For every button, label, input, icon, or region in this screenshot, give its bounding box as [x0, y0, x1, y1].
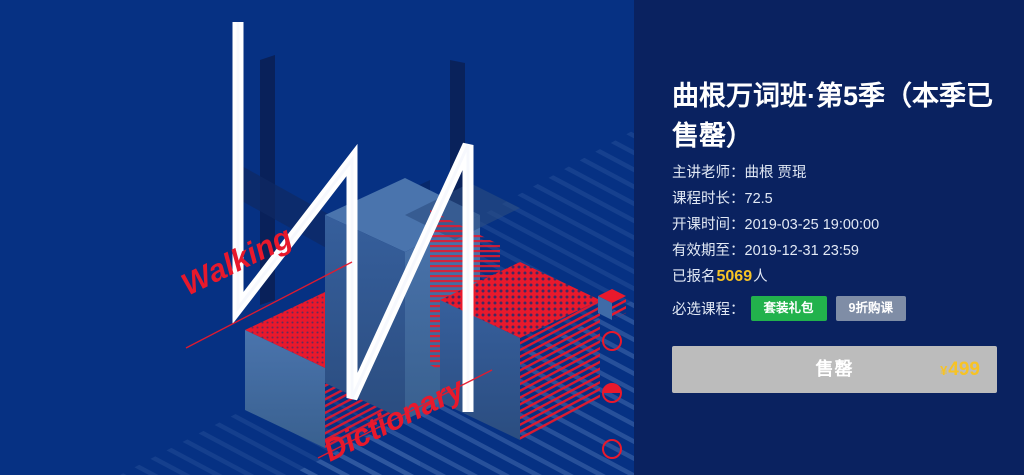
course-meta-list: 主讲老师：曲根 贾琨 课程时长：72.5 开课时间：2019-03-25 19:… — [672, 160, 1012, 290]
artwork-panel: Walking Dictionary — [0, 0, 634, 475]
meta-value-start-time: 2019-03-25 19:00:00 — [745, 217, 880, 233]
enrollment-prefix: 已报名 — [672, 269, 716, 285]
course-title: 曲根万词班·第5季（本季已售罄） — [672, 76, 1002, 156]
required-courses-label: 必选课程： — [672, 298, 745, 319]
purchase-bar[interactable]: 售罄 ¥499 — [672, 346, 997, 393]
meta-label-valid-until: 有效期至： — [672, 243, 745, 259]
badge-discount-purchase[interactable]: 9折购课 — [836, 296, 906, 321]
enrollment-suffix: 人 — [753, 269, 768, 285]
meta-row-teacher: 主讲老师：曲根 贾琨 — [672, 160, 1012, 186]
course-detail-panel: 曲根万词班·第5季（本季已售罄） 主讲老师：曲根 贾琨 课程时长：72.5 开课… — [634, 0, 1024, 475]
meta-row-duration: 课程时长：72.5 — [672, 186, 1012, 212]
meta-label-duration: 课程时长： — [672, 191, 745, 207]
meta-value-valid-until: 2019-12-31 23:59 — [745, 243, 860, 259]
price-amount: ¥499 — [940, 346, 980, 393]
artwork-illustration: Walking Dictionary — [0, 0, 634, 475]
meta-row-start-time: 开课时间：2019-03-25 19:00:00 — [672, 212, 1012, 238]
meta-row-valid-until: 有效期至：2019-12-31 23:59 — [672, 238, 1012, 264]
required-courses-row: 必选课程： 套装礼包 9折购课 — [672, 296, 906, 321]
price-value: 499 — [948, 359, 980, 380]
meta-label-teacher: 主讲老师： — [672, 165, 745, 181]
enrollment-count: 5069 — [716, 268, 754, 285]
meta-value-duration: 72.5 — [745, 191, 773, 207]
badge-gift-package[interactable]: 套装礼包 — [751, 296, 827, 321]
meta-row-enrollment: 已报名5069人 — [672, 264, 1012, 290]
course-banner: Walking Dictionary 曲根万词班·第5季（本季已售罄） — [0, 0, 1024, 475]
meta-label-start-time: 开课时间： — [672, 217, 745, 233]
meta-value-teacher: 曲根 贾琨 — [745, 165, 807, 181]
